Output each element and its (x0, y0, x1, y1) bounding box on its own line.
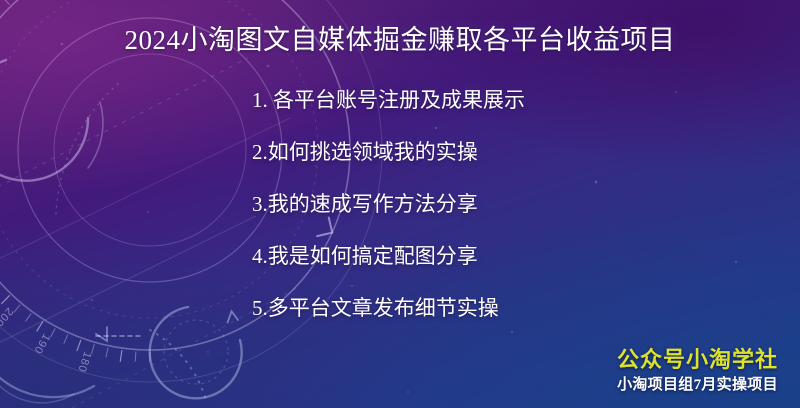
presentation-slide: 180 190 200 210 220 (0, 0, 800, 408)
agenda-item-4: 4.我是如何搞定配图分享 (252, 242, 525, 270)
agenda-item-3: 3.我的速成写作方法分享 (252, 190, 525, 218)
slide-content: 2024小淘图文自媒体掘金赚取各平台收益项目 1. 各平台账号注册及成果展示 2… (0, 0, 800, 408)
footer-branding: 公众号小淘学社 小淘项目组7月实操项目 (617, 346, 778, 396)
agenda-item-5: 5.多平台文章发布细节实操 (252, 294, 525, 322)
agenda-item-1: 1. 各平台账号注册及成果展示 (252, 86, 525, 114)
agenda-list: 1. 各平台账号注册及成果展示 2.如何挑选领域我的实操 3.我的速成写作方法分… (252, 86, 525, 322)
agenda-item-2: 2.如何挑选领域我的实操 (252, 138, 525, 166)
brand-subtitle: 小淘项目组7月实操项目 (617, 374, 778, 396)
brand-name: 公众号小淘学社 (617, 346, 778, 374)
slide-title: 2024小淘图文自媒体掘金赚取各平台收益项目 (0, 23, 800, 57)
